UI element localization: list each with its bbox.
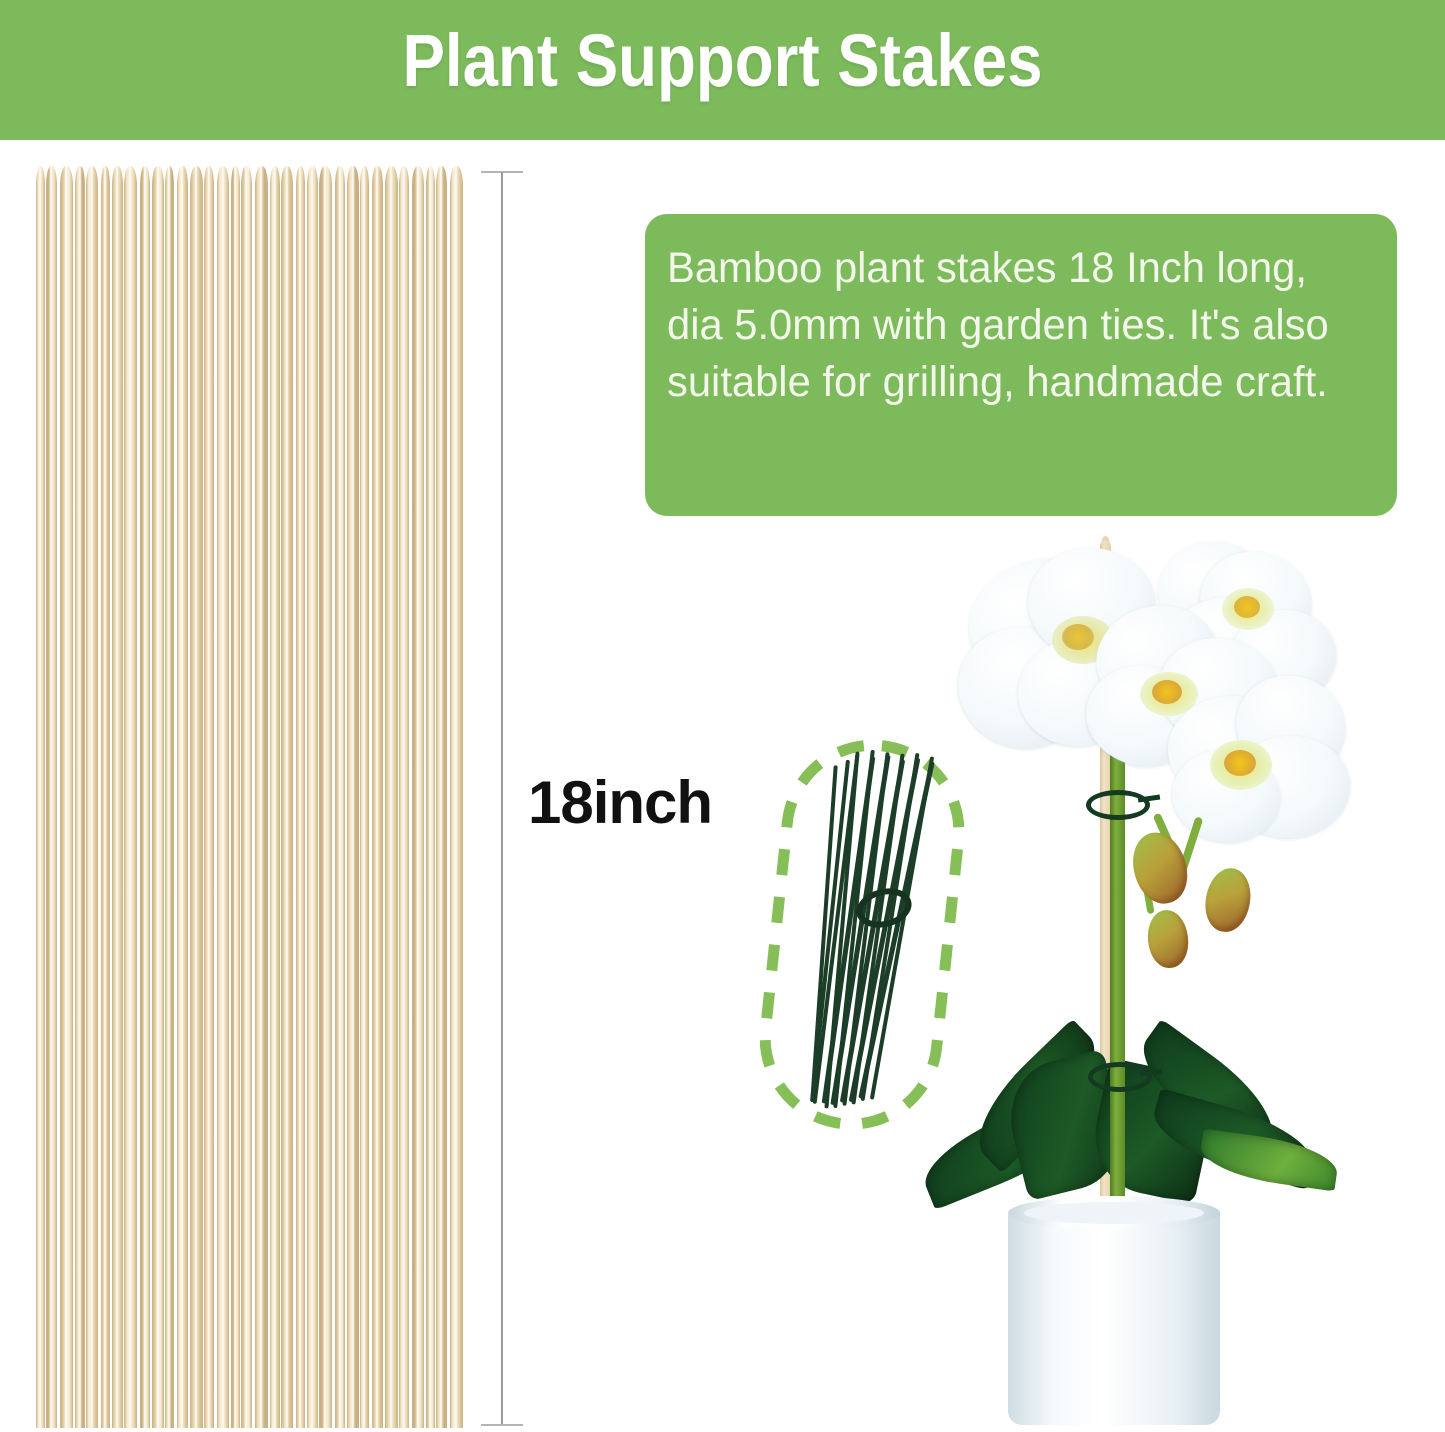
product-infographic: Plant Support Stakes 18inch Bamboo plant…	[0, 0, 1445, 1432]
bamboo-stake-highlight	[181, 166, 183, 1428]
bamboo-stake	[281, 166, 293, 1428]
bamboo-stake-highlight	[208, 166, 210, 1428]
bamboo-stake	[177, 166, 188, 1428]
bamboo-stake-highlight	[91, 166, 93, 1428]
bamboo-stake	[450, 166, 463, 1428]
bamboo-stake	[372, 166, 383, 1428]
measure-line	[501, 172, 503, 1425]
bamboo-stake-highlight	[116, 166, 118, 1428]
twist-tie-upper	[1086, 790, 1150, 820]
bamboo-stake-highlight	[440, 166, 442, 1428]
bamboo-stake	[152, 166, 164, 1428]
bamboo-stake	[436, 166, 447, 1428]
bamboo-stake	[241, 166, 252, 1428]
measurement-label: 18inch	[528, 768, 712, 837]
description-text: Bamboo plant stakes 18 Inch long, dia 5.…	[667, 240, 1336, 411]
header-banner: Plant Support Stakes	[0, 0, 1445, 140]
flower-pot-rim-inner	[1024, 1202, 1204, 1224]
orchid-flower-lip	[1062, 624, 1094, 650]
bamboo-stake	[319, 166, 332, 1428]
orchid-bud	[1201, 865, 1255, 936]
white-flower-pot	[1008, 1210, 1220, 1425]
bamboo-stake-highlight	[157, 166, 159, 1428]
bamboo-stake	[36, 166, 45, 1428]
bamboo-stake	[217, 166, 229, 1428]
bamboo-stake-highlight	[363, 166, 365, 1428]
bamboo-stake	[86, 166, 98, 1428]
bamboo-stake-highlight	[403, 166, 405, 1428]
bamboo-stake-highlight	[352, 166, 354, 1428]
bamboo-stake	[412, 166, 424, 1428]
bamboo-stake-highlight	[50, 166, 52, 1428]
bamboo-stake	[426, 166, 435, 1428]
bamboo-stake-highlight	[234, 166, 236, 1428]
bamboo-stake	[101, 166, 110, 1428]
bamboo-stake	[307, 166, 318, 1428]
page-title: Plant Support Stakes	[101, 18, 1344, 103]
bamboo-stake	[270, 166, 280, 1428]
bamboo-stake	[140, 166, 150, 1428]
bamboo-stake-highlight	[144, 166, 146, 1428]
bamboo-stake	[347, 166, 359, 1428]
bamboo-stake	[296, 166, 305, 1428]
orchid-leaf-light	[1198, 1129, 1341, 1192]
twist-tie-lower	[1088, 1062, 1152, 1092]
bamboo-stake	[112, 166, 123, 1428]
description-callout-box: Bamboo plant stakes 18 Inch long, dia 5.…	[645, 214, 1397, 516]
bamboo-stakes-bundle-image	[36, 166, 466, 1428]
bamboo-stake-highlight	[417, 166, 419, 1428]
bamboo-stake-highlight	[311, 166, 313, 1428]
bamboo-stake-highlight	[245, 166, 247, 1428]
bamboo-stake-highlight	[65, 166, 67, 1428]
bamboo-stake	[255, 166, 268, 1428]
bamboo-stake-highlight	[79, 166, 81, 1428]
bamboo-stake-highlight	[376, 166, 378, 1428]
orchid-bud	[1145, 908, 1191, 970]
bamboo-stake-highlight	[429, 166, 431, 1428]
bamboo-stake-highlight	[299, 166, 301, 1428]
bamboo-stake-highlight	[274, 166, 276, 1428]
bamboo-stake-highlight	[39, 166, 41, 1428]
bamboo-stake-highlight	[168, 166, 170, 1428]
bamboo-stake-highlight	[324, 166, 326, 1428]
bamboo-stake-highlight	[260, 166, 262, 1428]
bamboo-stake	[75, 166, 85, 1428]
bamboo-stake-highlight	[222, 166, 224, 1428]
orchid-bud	[1125, 826, 1195, 910]
bamboo-stake	[385, 166, 398, 1428]
bamboo-stake	[204, 166, 214, 1428]
bamboo-stake	[335, 166, 345, 1428]
bamboo-stake	[124, 166, 137, 1428]
bamboo-stake-highlight	[195, 166, 197, 1428]
bamboo-stake-highlight	[104, 166, 106, 1428]
bamboo-stake-highlight	[455, 166, 457, 1428]
bamboo-stake	[231, 166, 240, 1428]
bamboo-stake	[399, 166, 409, 1428]
orchid-flower-lip	[1152, 680, 1182, 704]
bamboo-stake	[165, 166, 174, 1428]
bamboo-stake	[190, 166, 203, 1428]
bamboo-stake-highlight	[390, 166, 392, 1428]
orchid-flower-lip	[1234, 596, 1260, 618]
bamboo-stake-highlight	[129, 166, 131, 1428]
orchid-plant-image	[900, 520, 1445, 1432]
orchid-flower-lip	[1224, 750, 1256, 776]
bamboo-stake	[360, 166, 369, 1428]
bamboo-stake	[60, 166, 73, 1428]
bamboo-stake-highlight	[286, 166, 288, 1428]
measure-cap-bottom	[481, 1424, 523, 1426]
bamboo-stake-highlight	[339, 166, 341, 1428]
bamboo-stake	[46, 166, 57, 1428]
